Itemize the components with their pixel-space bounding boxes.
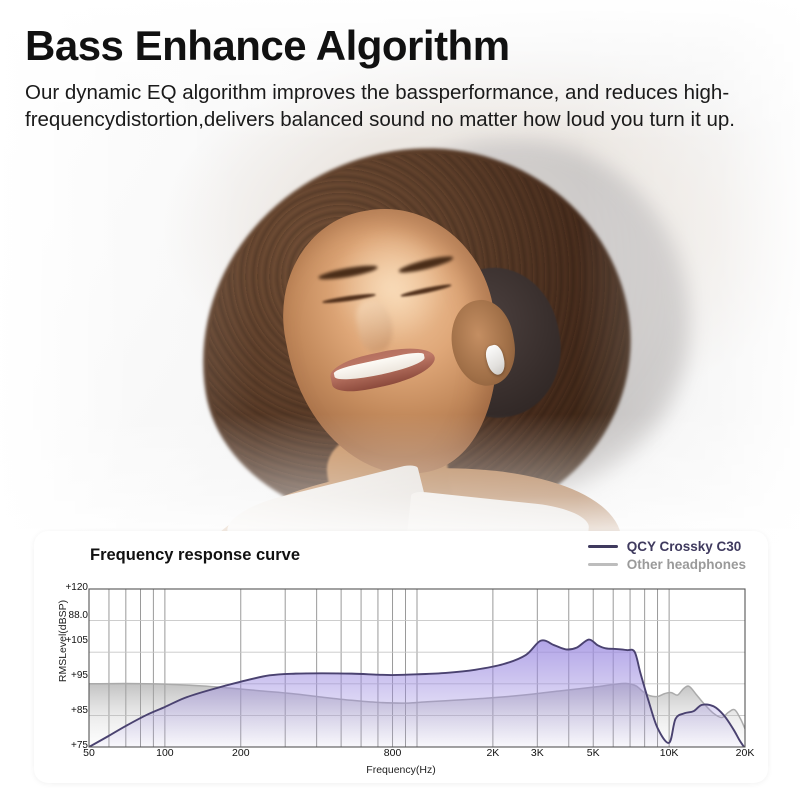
x-axis-title: Frequency(Hz) bbox=[34, 764, 768, 776]
page-title: Bass Enhance Algorithm bbox=[25, 24, 765, 69]
x-tick-label: 100 bbox=[156, 747, 174, 759]
page-subtitle: Our dynamic EQ algorithm improves the ba… bbox=[25, 79, 745, 134]
frequency-response-card: Frequency response curve QCY Crossky C30… bbox=[34, 531, 768, 783]
chart-plot-area: RMSLevel(dBSP) +75+85+95+10588.0+120 501… bbox=[34, 531, 768, 783]
frequency-response-plot bbox=[34, 531, 768, 783]
x-tick-label: 200 bbox=[232, 747, 250, 759]
x-tick-label: 50 bbox=[83, 747, 95, 759]
x-tick-label: 5K bbox=[587, 747, 600, 759]
x-tick-label: 10K bbox=[660, 747, 679, 759]
x-tick-label: 800 bbox=[384, 747, 402, 759]
x-axis-ticks: 501002008002K3K5K10K20K bbox=[34, 747, 768, 765]
x-tick-label: 3K bbox=[531, 747, 544, 759]
x-tick-label: 2K bbox=[486, 747, 499, 759]
x-tick-label: 20K bbox=[736, 747, 755, 759]
headline-block: Bass Enhance Algorithm Our dynamic EQ al… bbox=[25, 24, 765, 133]
product-feature-page: Bass Enhance Algorithm Our dynamic EQ al… bbox=[0, 0, 800, 800]
